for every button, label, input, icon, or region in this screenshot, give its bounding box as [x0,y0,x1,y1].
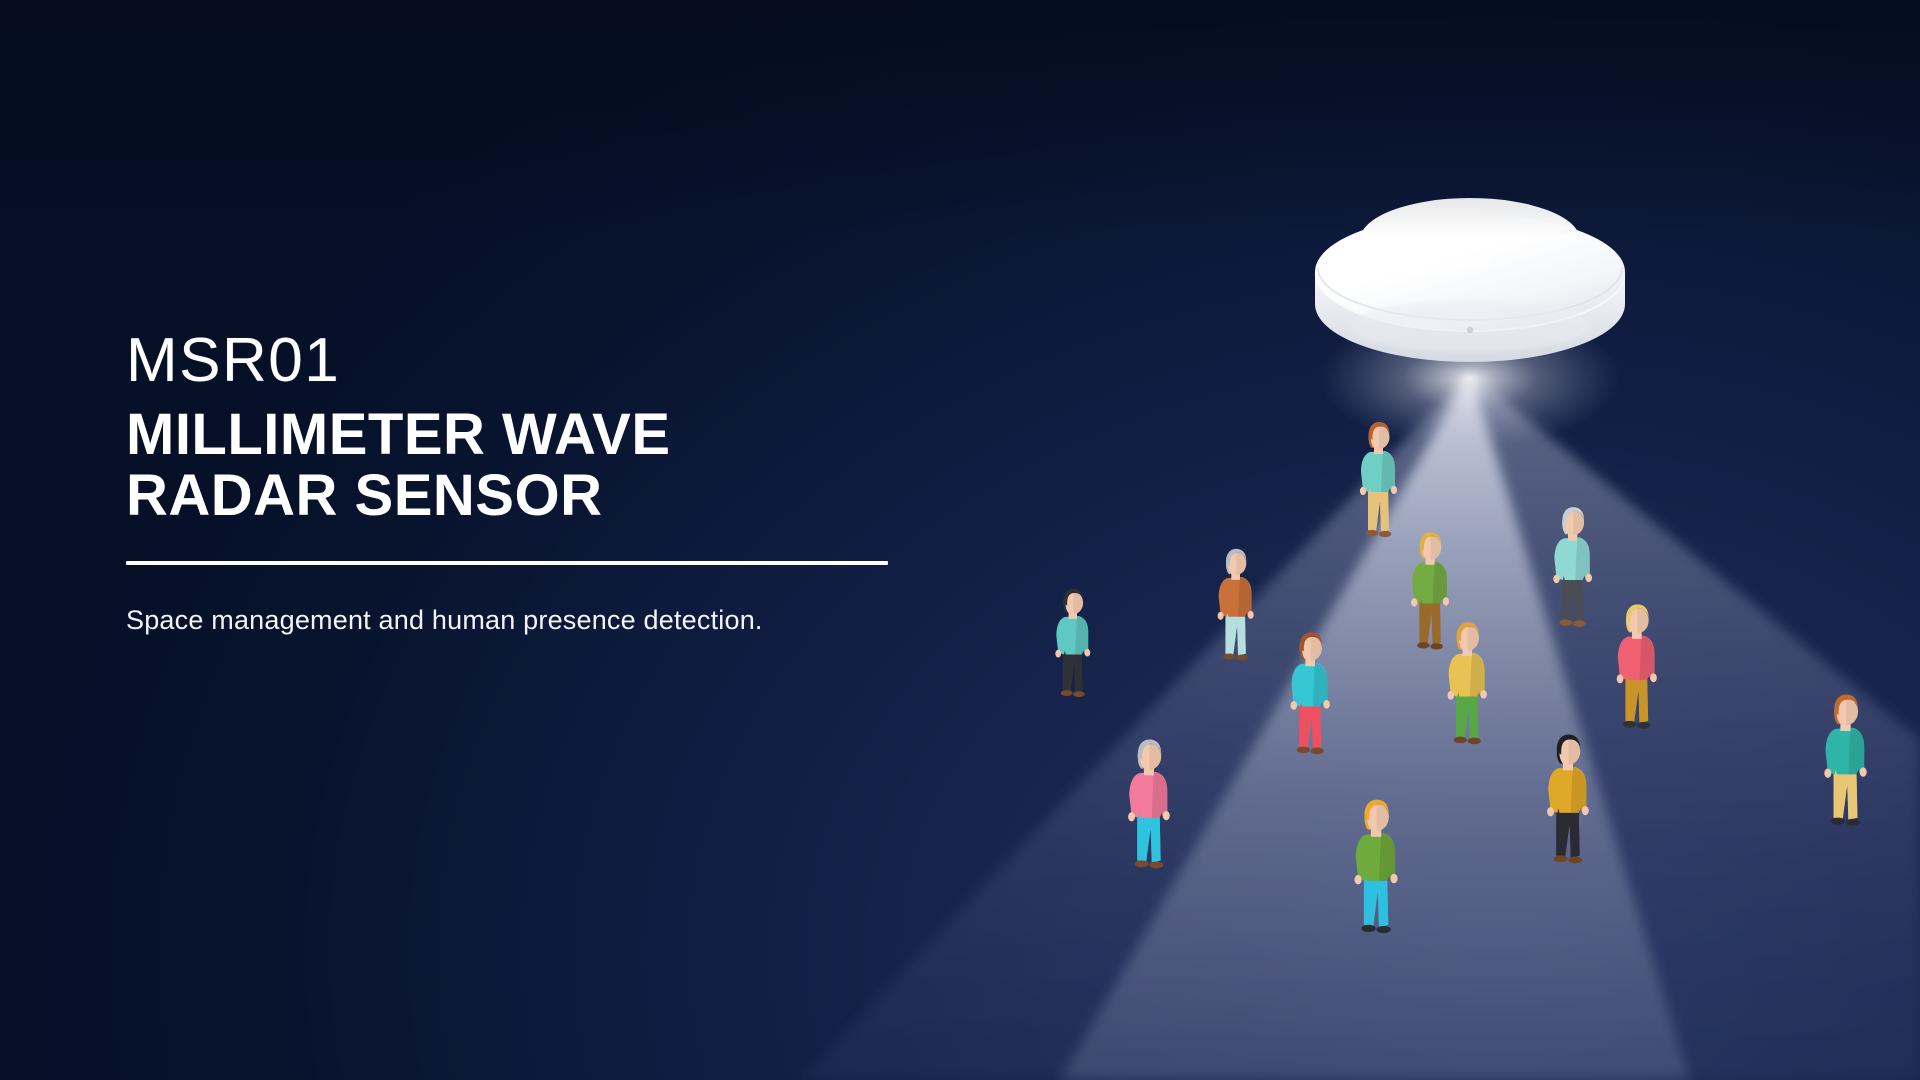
person-figure [1117,735,1180,874]
person-figure [1046,585,1099,702]
headline-line-1: MILLIMETER WAVE [126,402,671,467]
person-figure [1437,618,1496,749]
hero-text-block: MSR01 MILLIMETER WAVE RADAR SENSOR Space… [126,330,926,636]
title-divider [126,561,888,565]
person-figure [1350,418,1406,542]
hero-subtitle: Space management and human presence dete… [126,605,926,636]
device-highlight [1338,230,1494,274]
mmwave-sensor-device [1315,198,1625,362]
device-underside-shade [1350,300,1590,352]
person-figure [1813,690,1877,831]
product-model-name: MSR01 [126,330,926,392]
person-figure [1606,600,1666,734]
page-title: MILLIMETER WAVE RADAR SENSOR [126,404,926,527]
person-figure [1343,795,1408,939]
person-figure [1543,503,1601,632]
headline-line-2: RADAR SENSOR [126,465,926,526]
person-figure [1536,730,1599,869]
hero-banner: MSR01 MILLIMETER WAVE RADAR SENSOR Space… [0,0,1920,1080]
device-highlight-top [1386,208,1490,236]
person-figure [1208,545,1262,665]
person-figure [1280,628,1339,759]
